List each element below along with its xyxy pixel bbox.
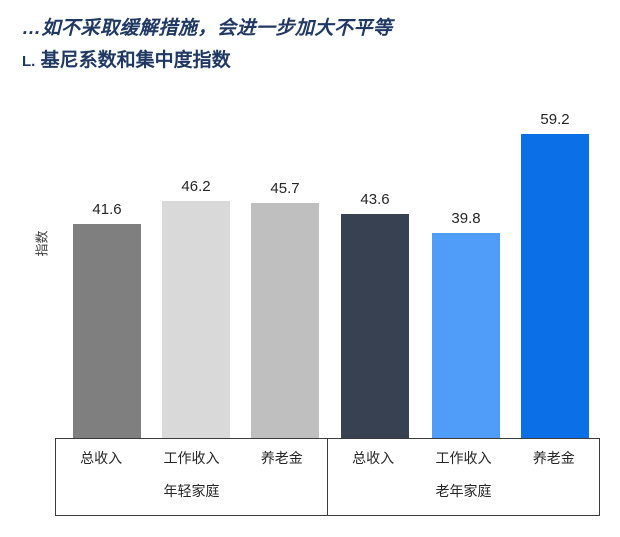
bar-value-2: 46.2 <box>150 178 242 196</box>
subtitle-text: 基尼系数和集中度指数 <box>41 50 231 71</box>
axis-cat-elderly-total: 总收入 <box>328 448 418 468</box>
axis-cat-young-total: 总收入 <box>56 448 146 468</box>
bar-value-5: 39.8 <box>420 210 512 228</box>
axis-group-elderly: 总收入 工作收入 养老金 老年家庭 <box>327 439 599 515</box>
bar-1[interactable] <box>73 224 141 438</box>
axis-cat-young-work: 工作收入 <box>146 448 236 468</box>
bar-slot-5: 39.8 <box>432 104 500 438</box>
bar-slot-4: 43.6 <box>341 104 409 438</box>
bar-3[interactable] <box>251 203 319 438</box>
bar-value-3: 45.7 <box>239 180 331 198</box>
axis-group-label-elderly: 老年家庭 <box>328 477 599 511</box>
page-title: …如不采取缓解措施，会进一步加大不平等 <box>22 14 602 44</box>
bar-chart: 指数 41.6 46.2 45.7 43.6 39.8 59.2 <box>0 104 620 537</box>
bar-slot-3: 45.7 <box>251 104 319 438</box>
slide-header: …如不采取缓解措施，会进一步加大不平等 L. 基尼系数和集中度指数 <box>22 14 602 77</box>
bar-slot-6: 59.2 <box>521 104 589 438</box>
axis-cat-elderly-work: 工作收入 <box>418 448 508 468</box>
bar-2[interactable] <box>162 201 230 438</box>
axis-cat-elderly-pension: 养老金 <box>509 448 599 468</box>
bar-value-6: 59.2 <box>509 111 601 129</box>
bar-value-1: 41.6 <box>61 201 153 219</box>
plot-area: 41.6 46.2 45.7 43.6 39.8 59.2 <box>0 104 620 438</box>
axis-group-young: 总收入 工作收入 养老金 年轻家庭 <box>56 439 327 515</box>
axis-group-label-young: 年轻家庭 <box>56 477 327 511</box>
bar-slot-2: 46.2 <box>162 104 230 438</box>
subtitle-index-prefix: L. <box>22 53 35 70</box>
page-subtitle: L. 基尼系数和集中度指数 <box>22 46 602 77</box>
x-axis-category-table: 总收入 工作收入 养老金 年轻家庭 总收入 工作收入 养老金 老年家庭 <box>55 438 600 516</box>
bar-6[interactable] <box>521 134 589 438</box>
axis-group-young-categories: 总收入 工作收入 养老金 <box>56 439 327 477</box>
bar-4[interactable] <box>341 214 409 438</box>
axis-group-elderly-categories: 总收入 工作收入 养老金 <box>328 439 599 477</box>
bar-slot-1: 41.6 <box>73 104 141 438</box>
axis-cat-young-pension: 养老金 <box>237 448 327 468</box>
bar-5[interactable] <box>432 233 500 438</box>
bar-value-4: 43.6 <box>329 191 421 209</box>
